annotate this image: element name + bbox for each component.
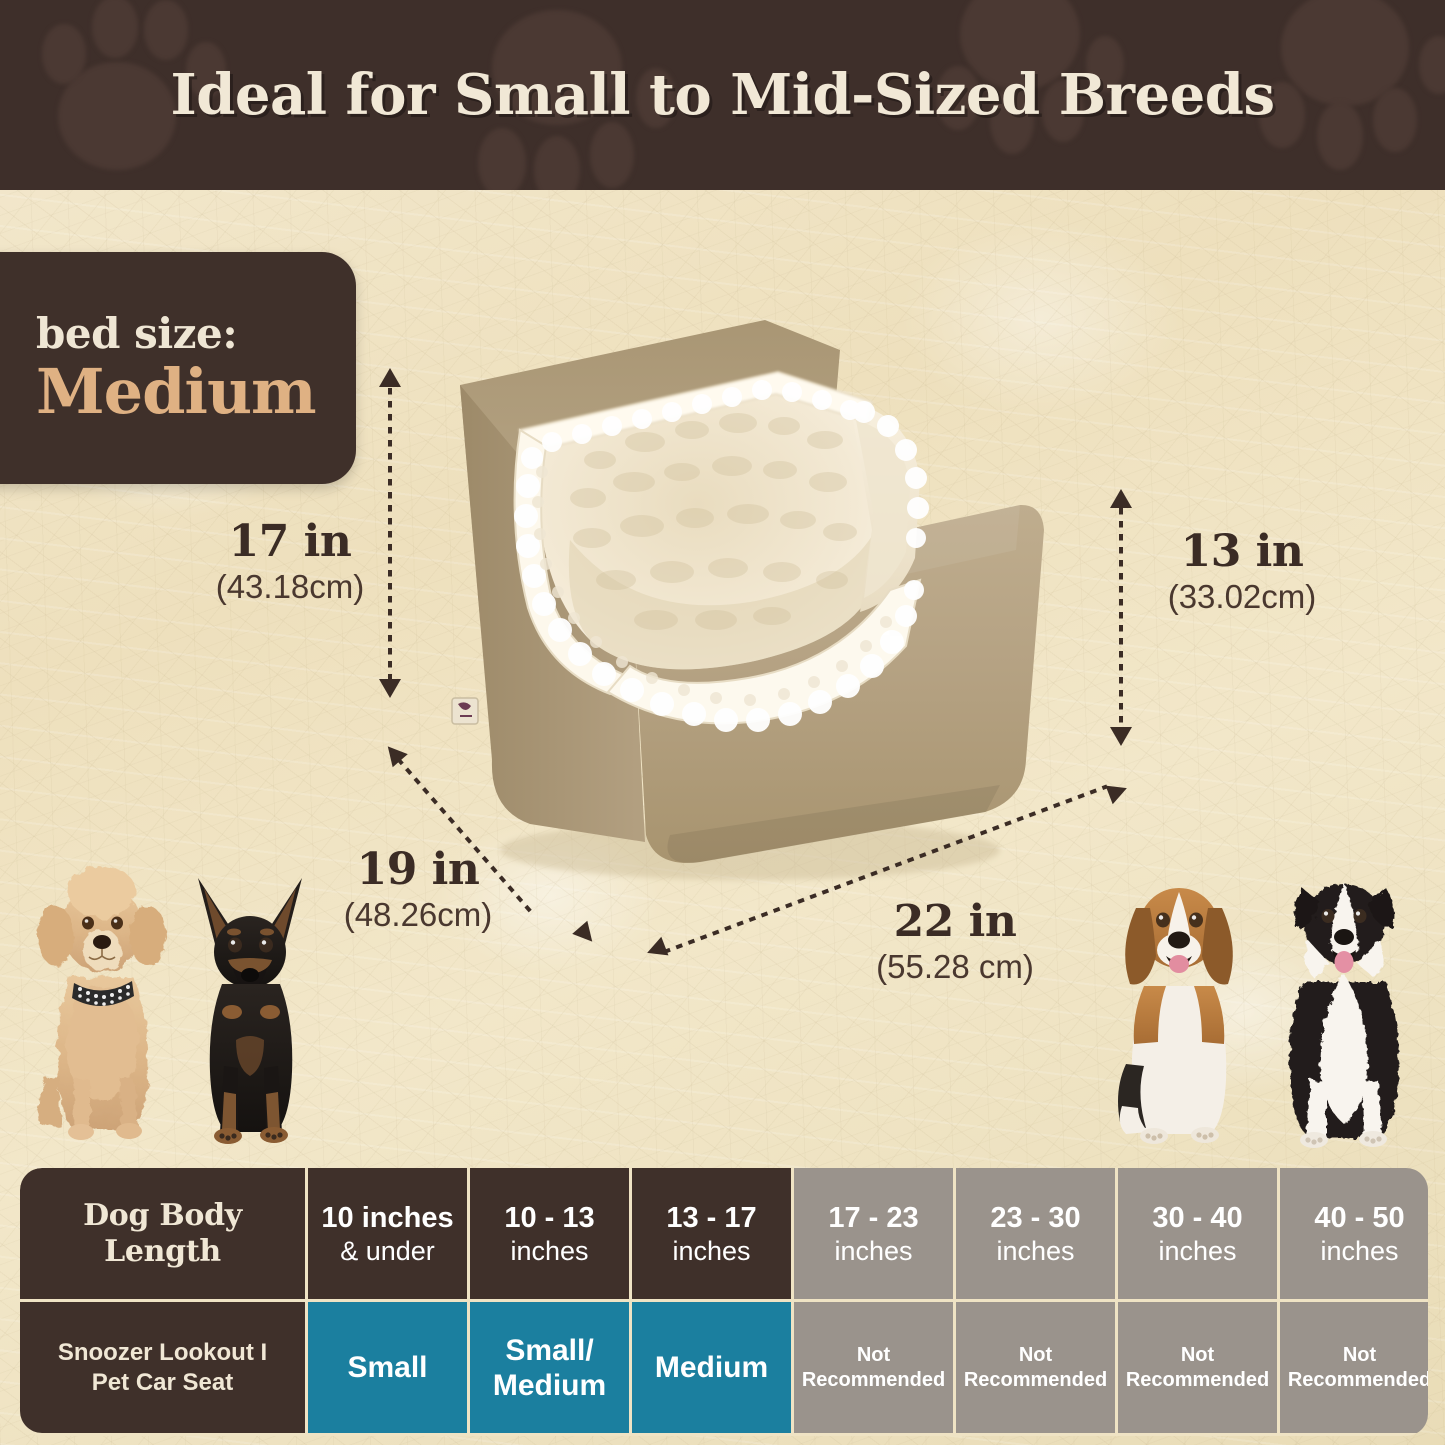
dimension-arrow-up [1110,489,1132,508]
dimension-arrow-downright [572,921,600,948]
dimension-label-side: 19 in (48.26cm) [308,845,528,935]
dimension-label-width: 22 in (55.28 cm) [830,897,1080,987]
range-line2: & under [340,1235,435,1267]
fit-line1: Not [857,1343,890,1368]
dimension-arrow-downleft [644,937,669,962]
fit-line2: Recommended [964,1368,1107,1393]
sizing-chart-table: Dog Body Length 10 inches & under 10 - 1… [20,1168,1428,1436]
product-label-line2: Pet Car Seat [92,1368,233,1398]
range-line2: inches [510,1235,588,1267]
dimension-metric-depth: (33.02cm) [1142,577,1342,617]
table-header-cell-range-7: 40 - 50 inches [1280,1168,1428,1299]
range-line1: 17 - 23 [828,1201,918,1235]
dog-photo-border-collie [1258,832,1428,1150]
dimension-line-height [388,388,392,680]
range-line1: 10 - 13 [504,1201,594,1235]
dimension-inches-height: 17 in [195,517,385,567]
fit-line1: Not [1343,1343,1376,1368]
dimension-arrow-down [379,679,401,698]
range-line2: inches [1158,1235,1236,1267]
fit-line1: Not [1019,1343,1052,1368]
dog-photo-miniature-pinscher [170,860,330,1152]
range-line1: 40 - 50 [1314,1201,1404,1235]
table-cell-fit-7: Not Recommended [1280,1302,1428,1433]
range-line2: inches [834,1235,912,1267]
dog-photo-beagle [1092,836,1267,1148]
table-cell-fit-6: Not Recommended [1118,1302,1277,1433]
dimension-line-depth [1119,508,1123,728]
range-line1: 10 inches [321,1201,453,1235]
fit-line2: Recommended [1288,1368,1428,1393]
range-line1: 23 - 30 [990,1201,1080,1235]
fit-line2: Recommended [1126,1368,1269,1393]
fit-line2: Recommended [802,1368,945,1393]
range-line1: 13 - 17 [666,1201,756,1235]
fit-line1: Medium [655,1350,768,1385]
table-header-row: Dog Body Length 10 inches & under 10 - 1… [20,1168,1428,1299]
page-title: Ideal for Small to Mid-Sized Breeds [0,0,1445,190]
table-cell-fit-4: Not Recommended [794,1302,953,1433]
table-header-cell-range-4: 17 - 23 inches [794,1168,953,1299]
table-header-cell-range-6: 30 - 40 inches [1118,1168,1277,1299]
fit-line2: Medium [493,1368,606,1403]
bed-size-badge: bed size: Medium [0,252,356,484]
bed-size-label: bed size: [0,310,356,358]
fit-line1: Small/ [505,1333,593,1368]
range-line1: 30 - 40 [1152,1201,1242,1235]
table-cell-fit-2: Small/ Medium [470,1302,629,1433]
dimension-inches-side: 19 in [308,845,528,895]
table-row-label-product: Snoozer Lookout I Pet Car Seat [20,1302,305,1433]
dimension-inches-depth: 13 in [1142,527,1342,577]
fit-line1: Not [1181,1343,1214,1368]
header-label-line1: Dog Body [83,1198,242,1234]
dimension-arrow-up [379,368,401,387]
range-line2: inches [996,1235,1074,1267]
table-header-cell-range-2: 10 - 13 inches [470,1168,629,1299]
table-row: Snoozer Lookout I Pet Car Seat Small Sma… [20,1302,1428,1433]
dog-photo-poodle [22,828,187,1148]
fit-line1: Small [347,1350,427,1385]
table-cell-fit-5: Not Recommended [956,1302,1115,1433]
table-header-cell-range-5: 23 - 30 inches [956,1168,1115,1299]
table-header-cell-dog-body-length: Dog Body Length [20,1168,305,1299]
dimension-label-height: 17 in (43.18cm) [195,517,385,607]
header-label-line2: Length [104,1234,221,1270]
dimension-metric-height: (43.18cm) [195,567,385,607]
table-cell-fit-3: Medium [632,1302,791,1433]
dimension-label-depth: 13 in (33.02cm) [1142,527,1342,617]
dimension-inches-width: 22 in [830,897,1080,947]
product-label-line1: Snoozer Lookout I [58,1338,267,1368]
dimension-arrow-down [1110,727,1132,746]
header-banner: Ideal for Small to Mid-Sized Breeds [0,0,1445,190]
brand-tag [452,698,478,724]
range-line2: inches [672,1235,750,1267]
dimension-metric-side: (48.26cm) [308,895,528,935]
dimension-arrow-upright [1106,779,1131,804]
table-header-cell-range-3: 13 - 17 inches [632,1168,791,1299]
range-line2: inches [1320,1235,1398,1267]
table-header-cell-range-1: 10 inches & under [308,1168,467,1299]
product-image-dog-car-seat [420,290,1080,900]
bed-size-value: Medium [0,358,356,426]
table-cell-fit-1: Small [308,1302,467,1433]
dimension-metric-width: (55.28 cm) [830,947,1080,987]
infographic-page: Ideal for Small to Mid-Sized Breeds bed … [0,0,1445,1445]
